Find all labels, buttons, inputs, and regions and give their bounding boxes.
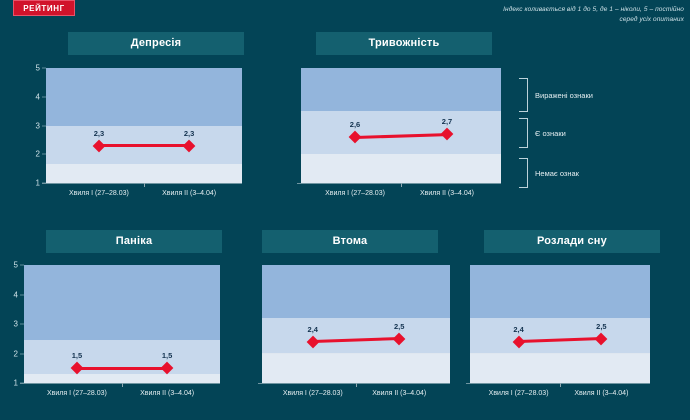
severity-band-mid	[470, 318, 650, 353]
x-axis-tick-label: Хвиля II (3–4.04)	[574, 390, 628, 397]
data-point-label: 2,5	[596, 322, 606, 331]
x-axis-tick-label: Хвиля I (27–28.03)	[489, 390, 549, 397]
slide-canvas: РЕЙТИНГ Індекс коливається від 1 до 5, д…	[0, 0, 690, 420]
chart-title-rozlady-snu: Розлади сну	[484, 230, 660, 253]
severity-band-high	[470, 265, 650, 318]
severity-band-low	[470, 354, 650, 384]
chart-card-rozlady-snu: Розлади сну2,42,5Хвиля I (27–28.03)Хвиля…	[0, 0, 690, 420]
x-axis-mid-tick	[560, 383, 561, 387]
data-point-label: 2,4	[513, 325, 523, 334]
plot-area-rozlady-snu: 2,42,5	[470, 265, 650, 383]
x-axis-line	[466, 383, 650, 384]
